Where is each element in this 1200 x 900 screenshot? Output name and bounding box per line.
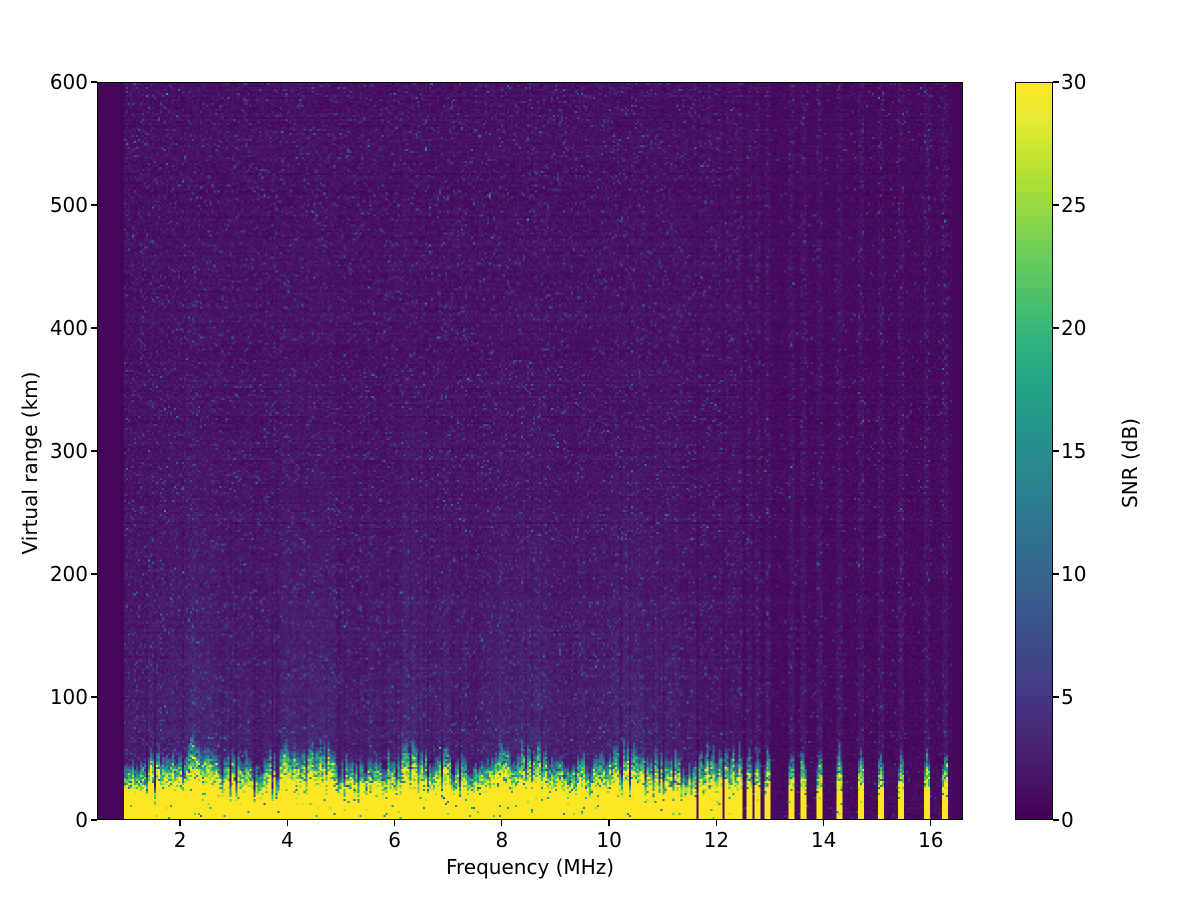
x-tick-label-10: 10 — [579, 828, 639, 852]
x-axis-label: Frequency (MHz) — [97, 855, 963, 879]
y-tick-mark-500 — [91, 204, 97, 205]
colorbar-tick-mark-20 — [1053, 327, 1059, 328]
x-tick-mark-12 — [716, 820, 717, 826]
y-tick-mark-600 — [91, 81, 97, 82]
y-tick-mark-400 — [91, 327, 97, 328]
x-tick-label-6: 6 — [365, 828, 425, 852]
x-tick-label-12: 12 — [686, 828, 746, 852]
heatmap-plot-area — [97, 82, 963, 820]
x-tick-mark-8 — [501, 820, 502, 826]
x-tick-label-16: 16 — [901, 828, 961, 852]
y-tick-label-400: 400 — [28, 316, 88, 340]
y-tick-mark-100 — [91, 696, 97, 697]
colorbar-tick-label-15: 15 — [1061, 439, 1086, 463]
colorbar — [1015, 82, 1053, 820]
y-tick-mark-300 — [91, 450, 97, 451]
x-tick-label-8: 8 — [472, 828, 532, 852]
x-tick-label-14: 14 — [794, 828, 854, 852]
colorbar-tick-mark-0 — [1053, 819, 1059, 820]
x-tick-label-4: 4 — [257, 828, 317, 852]
y-tick-label-600: 600 — [28, 70, 88, 94]
x-tick-mark-4 — [287, 820, 288, 826]
colorbar-tick-label-0: 0 — [1061, 808, 1074, 832]
y-tick-label-0: 0 — [28, 808, 88, 832]
colorbar-tick-mark-25 — [1053, 204, 1059, 205]
x-tick-mark-2 — [179, 820, 180, 826]
ionogram-figure: IRF Kiruna Ionosonde KI167 2026-04-14 08… — [0, 0, 1200, 900]
x-tick-mark-14 — [823, 820, 824, 826]
x-tick-mark-6 — [394, 820, 395, 826]
x-tick-mark-16 — [930, 820, 931, 826]
y-tick-mark-0 — [91, 819, 97, 820]
x-tick-label-2: 2 — [150, 828, 210, 852]
y-tick-label-500: 500 — [28, 193, 88, 217]
y-tick-mark-200 — [91, 573, 97, 574]
colorbar-tick-mark-30 — [1053, 81, 1059, 82]
ionogram-heatmap-canvas — [98, 83, 962, 819]
colorbar-tick-mark-15 — [1053, 450, 1059, 451]
colorbar-gradient — [1016, 83, 1052, 819]
x-tick-mark-10 — [608, 820, 609, 826]
colorbar-label: SNR (dB) — [1118, 343, 1142, 583]
colorbar-tick-label-10: 10 — [1061, 562, 1086, 586]
colorbar-tick-mark-5 — [1053, 696, 1059, 697]
colorbar-tick-mark-10 — [1053, 573, 1059, 574]
y-tick-label-100: 100 — [28, 685, 88, 709]
colorbar-tick-label-20: 20 — [1061, 316, 1086, 340]
colorbar-tick-label-30: 30 — [1061, 70, 1086, 94]
colorbar-tick-label-5: 5 — [1061, 685, 1074, 709]
y-axis-label: Virtual range (km) — [18, 343, 42, 583]
colorbar-tick-label-25: 25 — [1061, 193, 1086, 217]
